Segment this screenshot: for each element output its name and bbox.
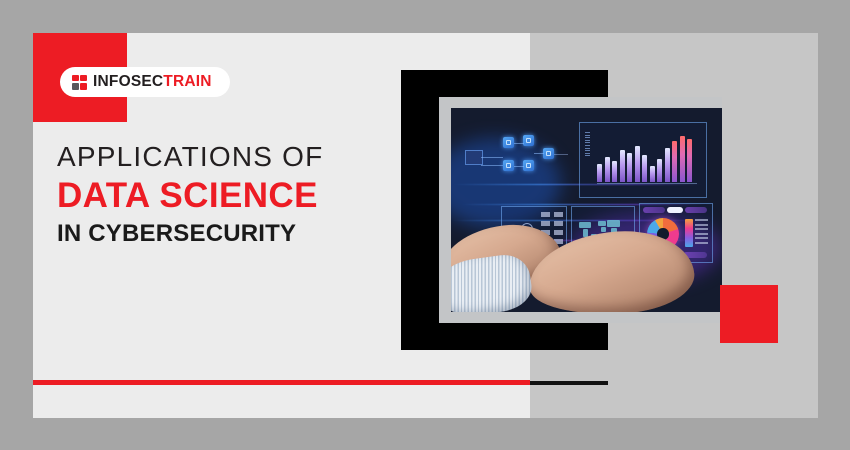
banner-canvas: INFOSECTRAIN APPLICATIONS OF DATA SCIENC…: [33, 33, 818, 418]
headline-group: APPLICATIONS OF DATA SCIENCE IN CYBERSEC…: [57, 142, 457, 247]
logo-wordmark-dark: INFOSEC: [93, 73, 163, 90]
shirt-cuff: [451, 252, 534, 312]
infosectrain-logo[interactable]: INFOSECTRAIN: [60, 67, 230, 97]
headline-line-3: IN CYBERSECURITY: [57, 221, 457, 247]
logo-wordmark: INFOSECTRAIN: [93, 74, 212, 90]
photo-mat: [439, 97, 722, 323]
hologram-scene: [451, 108, 722, 312]
dashboard-photo: [451, 108, 722, 312]
headline-line-2: DATA SCIENCE: [57, 177, 457, 215]
headline-line-1: APPLICATIONS OF: [57, 142, 457, 173]
red-divider-rule: [33, 380, 530, 385]
black-divider-rule: [530, 381, 608, 385]
red-accent-square: [720, 285, 778, 343]
infosectrain-logo-mark-icon: [72, 75, 87, 90]
hands-group: [451, 108, 722, 312]
infosectrain-blog-banner: INFOSECTRAIN APPLICATIONS OF DATA SCIENC…: [0, 0, 850, 450]
logo-wordmark-red: TRAIN: [163, 73, 211, 90]
